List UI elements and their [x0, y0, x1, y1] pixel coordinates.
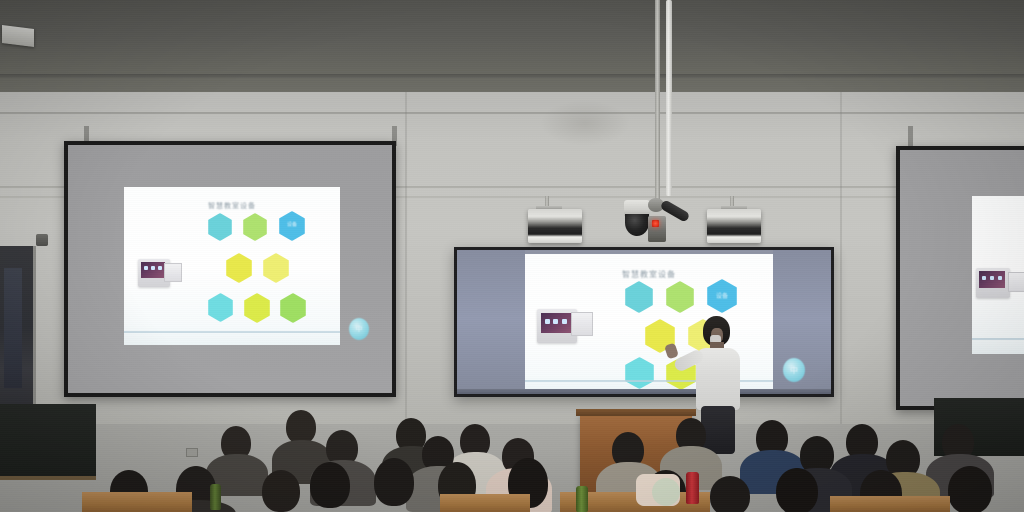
device-display [141, 262, 165, 278]
podium-top-surface [576, 409, 696, 416]
right-projection-screen[interactable] [896, 146, 1024, 410]
lower-wall [0, 424, 1024, 512]
presenter [688, 316, 750, 452]
right-device-icon-1 [982, 276, 986, 280]
blackboard-left [0, 404, 96, 480]
wall-sensor-device[interactable] [36, 234, 48, 246]
hex-c-1-3-label: 设备 [707, 291, 737, 300]
wall-vertical-seam-right [840, 92, 842, 428]
camera-controller-box[interactable] [648, 216, 666, 242]
left-door-opening [0, 246, 36, 422]
hex-2-1 [226, 253, 252, 283]
ceiling-beam [0, 74, 1024, 78]
hex-1-1 [208, 213, 232, 241]
left-slide-badge: 中 [349, 318, 369, 340]
hex-c-1-2 [666, 281, 694, 313]
center-device-icon-1 [545, 319, 550, 324]
status-led-icon [652, 220, 659, 227]
device-icon-2 [151, 266, 155, 270]
wall-power-outlet[interactable] [186, 448, 198, 457]
left-slide: 智慧教室设备 设备 [124, 187, 340, 345]
camera-drop-rod [655, 0, 660, 200]
center-device-icon-3 [562, 319, 567, 324]
left-screen-surface: 智慧教室设备 设备 [68, 145, 392, 393]
center-slide-badge: 中 [783, 358, 805, 382]
right-slide-device-image [976, 268, 1010, 298]
hex-3-1 [208, 293, 233, 322]
right-device-icon-3 [998, 276, 1002, 280]
hex-1-3-label: 设备 [279, 221, 305, 228]
device-icon-1 [144, 266, 148, 270]
center-slide-device-secondary [571, 312, 593, 336]
classroom-scene: 智慧教室设备 设备 [0, 0, 1024, 512]
blackboard-right [934, 398, 1024, 456]
ceiling-speaker-right [707, 209, 761, 243]
left-slide-device-secondary [164, 263, 182, 282]
wall-seam-upper [0, 112, 1024, 114]
door-glass-panel [4, 268, 22, 388]
board-left-panel [457, 250, 525, 394]
left-projection-screen[interactable]: 智慧教室设备 设备 [64, 141, 396, 397]
hex-2-2 [263, 253, 289, 283]
left-slide-underline [124, 331, 340, 333]
ceiling-pipe [666, 0, 672, 196]
hex-c-3-1 [625, 357, 654, 389]
hex-3-3 [280, 293, 306, 323]
device-icon-3 [158, 266, 162, 270]
ceiling-speaker-left [528, 209, 582, 243]
hex-1-2 [243, 213, 267, 241]
wooden-podium[interactable] [580, 414, 692, 492]
ceiling [0, 0, 1024, 96]
wall-stain [540, 100, 630, 146]
center-device-display [541, 313, 571, 333]
board-bottom-rail [457, 389, 831, 394]
center-interactive-whiteboard[interactable]: 智慧教室设备 设备 [454, 247, 834, 397]
right-screen-mount-arm [908, 126, 913, 148]
center-device-icon-2 [553, 319, 558, 324]
hex-c-1-1 [625, 281, 653, 313]
right-screen-surface [900, 150, 1024, 406]
wall-vertical-seam-left [405, 92, 407, 428]
right-device-icon-2 [990, 276, 994, 280]
presenter-legs [701, 406, 735, 454]
right-device-display [979, 271, 1005, 288]
ceiling-light-fixture [2, 25, 34, 47]
right-slide-device-secondary [1008, 272, 1024, 292]
hex-3-2 [244, 293, 270, 323]
center-board-surface: 智慧教室设备 设备 [457, 250, 831, 394]
right-slide [972, 196, 1024, 354]
right-slide-underline [972, 338, 1024, 340]
